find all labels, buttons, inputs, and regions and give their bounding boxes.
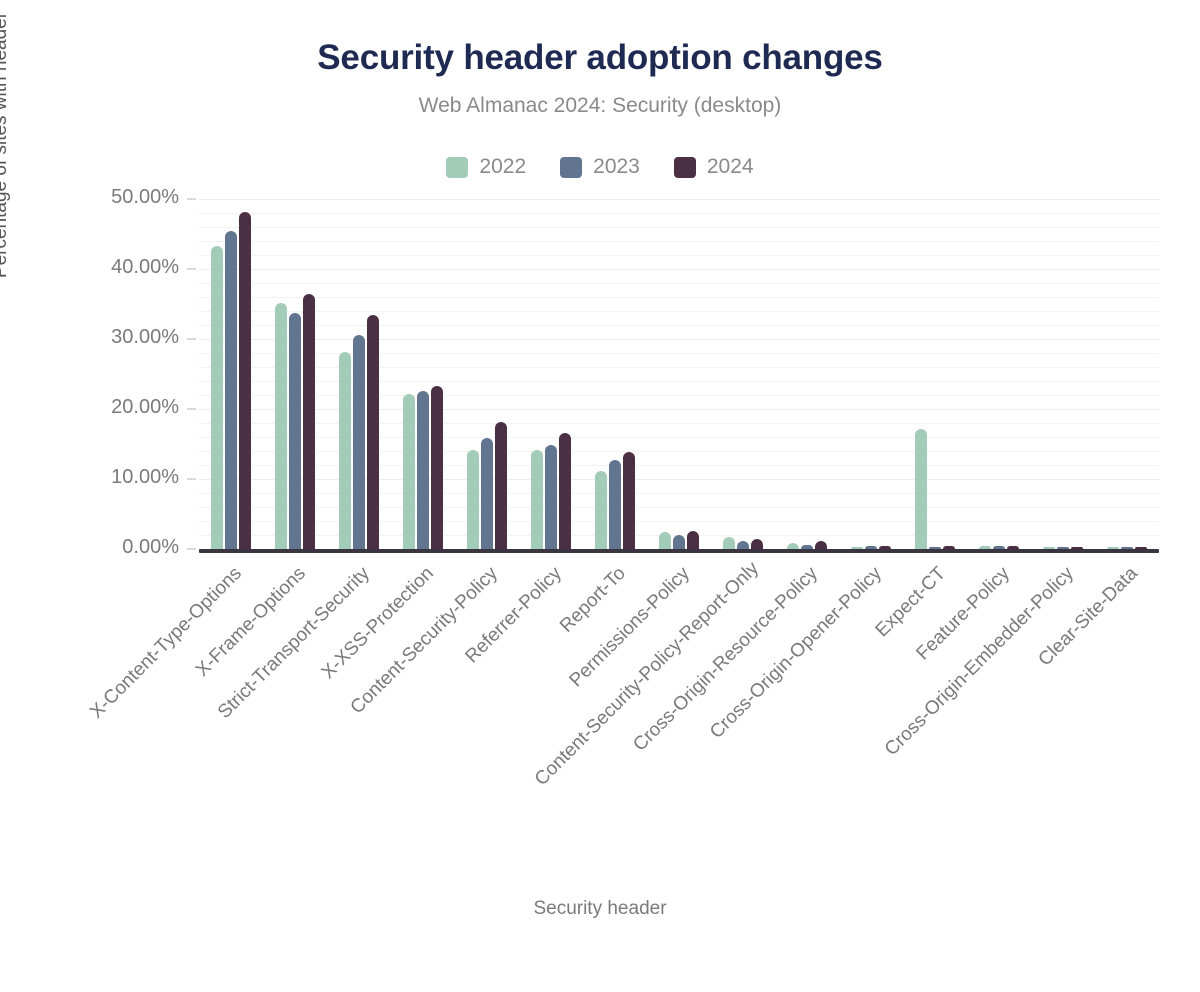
bar-2024[interactable] [559,433,571,549]
bar-group [403,199,443,549]
x-axis-title: Security header [0,898,1200,920]
bar-2023[interactable] [545,445,557,549]
bar-2022[interactable] [275,303,287,549]
legend-label-2024: 2024 [707,155,754,179]
bar-2023[interactable] [673,535,685,549]
bar-2023[interactable] [289,313,301,549]
bar-2022[interactable] [467,450,479,549]
bar-2023[interactable] [225,231,237,549]
bar-2022[interactable] [723,537,735,549]
bar-group [275,199,315,549]
bar-group [851,199,891,549]
bar-2024[interactable] [815,541,827,549]
y-tick-mark [187,478,196,480]
bar-group [1107,199,1147,549]
legend-swatch-2022 [446,157,468,178]
bar-2023[interactable] [737,541,749,549]
y-tick-label: 10.00% [49,466,179,489]
bar-group [915,199,955,549]
legend-label-2022: 2022 [479,155,526,179]
legend-item-2022[interactable]: 2022 [446,155,526,179]
bar-group [787,199,827,549]
bar-2023[interactable] [417,391,429,549]
bar-2022[interactable] [659,532,671,550]
chart-title: Security header adoption changes [0,38,1200,78]
bar-2024[interactable] [431,386,443,549]
y-tick-mark [187,338,196,340]
bar-group [211,199,251,549]
y-tick-mark [187,268,196,270]
bar-2022[interactable] [339,352,351,549]
bar-2024[interactable] [495,422,507,549]
bar-2023[interactable] [481,438,493,549]
bar-group [659,199,699,549]
y-tick-mark [187,198,196,200]
bar-2022[interactable] [531,450,543,549]
bar-group [339,199,379,549]
bar-group [723,199,763,549]
chart-container: Security header adoption changes Web Alm… [0,0,1200,992]
y-tick-label: 40.00% [49,256,179,279]
x-tick-label: X-Content-Type-Options [19,563,247,791]
x-axis-baseline [199,549,1159,553]
bar-group [1043,199,1083,549]
bar-2024[interactable] [239,212,251,549]
bar-2023[interactable] [353,335,365,549]
chart-legend: 202220232024 [0,155,1200,179]
bar-2022[interactable] [595,471,607,549]
y-tick-mark [187,408,196,410]
plot-area [199,199,1159,549]
y-tick-label: 0.00% [49,536,179,559]
legend-item-2023[interactable]: 2023 [560,155,640,179]
legend-swatch-2024 [674,157,696,178]
bar-group [979,199,1019,549]
bar-2024[interactable] [687,531,699,549]
bar-2024[interactable] [303,294,315,550]
y-tick-label: 50.00% [49,186,179,209]
bar-2023[interactable] [609,460,621,549]
bar-2022[interactable] [211,246,223,549]
chart-subtitle: Web Almanac 2024: Security (desktop) [0,94,1200,118]
y-axis-title: Percentage of sites with header [0,0,12,355]
bar-2022[interactable] [915,429,927,549]
y-tick-mark [187,548,196,550]
y-tick-label: 20.00% [49,396,179,419]
bar-2024[interactable] [751,539,763,549]
bar-2024[interactable] [367,315,379,549]
legend-swatch-2023 [560,157,582,178]
bar-group [531,199,571,549]
legend-label-2023: 2023 [593,155,640,179]
bar-2024[interactable] [623,452,635,549]
bar-group [595,199,635,549]
legend-item-2024[interactable]: 2024 [674,155,754,179]
bar-2022[interactable] [403,394,415,549]
y-tick-label: 30.00% [49,326,179,349]
bar-group [467,199,507,549]
